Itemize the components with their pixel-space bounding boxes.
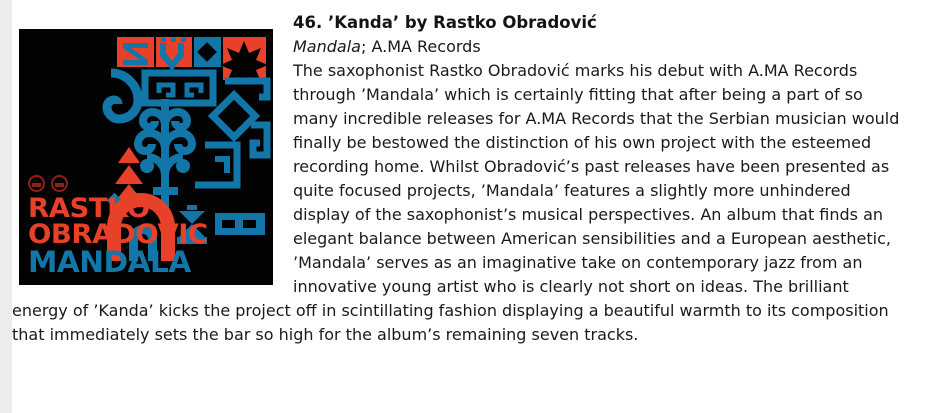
left-gutter [0, 0, 12, 413]
cover-album-title: MANDALA [28, 249, 212, 277]
album-cover-figure: RASTKO OBRADOVIC MANDALA [19, 29, 273, 285]
ama-records-badge-icon-2 [51, 175, 68, 192]
entry-album-name: Mandala [293, 37, 361, 56]
album-cover-image[interactable]: RASTKO OBRADOVIC MANDALA [19, 29, 273, 285]
cover-label-badges [28, 175, 208, 192]
article-entry: RASTKO OBRADOVIC MANDALA 46. ’Kanda’ by … [12, 0, 928, 413]
ama-records-badge-icon [28, 175, 45, 192]
cover-text-block: RASTKO OBRADOVIC MANDALA [28, 175, 208, 277]
entry-label-name: ; A.MA Records [361, 37, 481, 56]
